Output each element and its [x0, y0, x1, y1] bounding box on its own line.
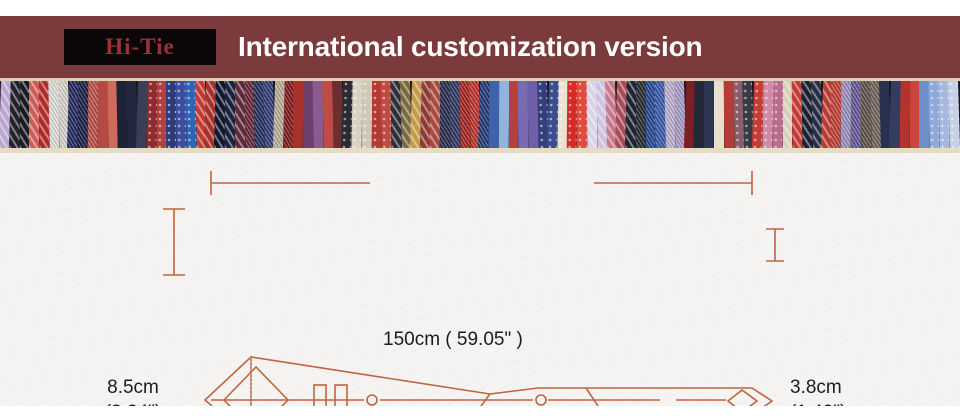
page-title: International customization version [238, 31, 702, 63]
necktie-thumbnail [851, 81, 861, 148]
right-width-cm: 3.8cm [790, 375, 920, 400]
necktie-thumbnail [919, 81, 929, 148]
header-band: Hi-Tie International customization versi… [0, 16, 960, 78]
necktie-thumbnail [587, 81, 597, 148]
length-dimension-line [211, 171, 752, 195]
tie-dimension-diagram: 150cm ( 59.05" ) 8.5cm (3.34") 3.8cm (1.… [0, 153, 960, 406]
necktie-thumbnail [948, 81, 960, 148]
brand-plate: Hi-Tie [64, 29, 216, 65]
necktie-thumbnail [567, 81, 577, 148]
left-width-cm: 8.5cm [78, 375, 188, 400]
length-dimension-label: 150cm ( 59.05" ) [383, 329, 523, 351]
product-detail-banner: Hi-Tie International customization versi… [0, 0, 960, 420]
necktie-thumbnail [156, 81, 166, 148]
necktie-thumbnail [146, 81, 157, 148]
necktie-thumbnail [98, 81, 108, 148]
necktie-thumbnail [909, 81, 919, 148]
necktie-thumbnail [860, 81, 870, 148]
right-width-dimension [766, 229, 784, 261]
necktie-thumbnail [88, 81, 98, 148]
keeper-loops [314, 385, 347, 406]
necktie-thumbnail [841, 81, 851, 148]
necktie-thumbnail [714, 81, 724, 148]
necktie-thumbnail [704, 81, 714, 148]
necktie-thumbnail [362, 81, 372, 148]
necktie-thumbnail [166, 81, 176, 148]
bottom-spacer [0, 406, 960, 420]
necktie-thumbnail [430, 81, 440, 148]
left-width-label: 8.5cm (3.34") [78, 375, 188, 406]
narrow-tip-diamond [728, 390, 757, 406]
necktie-thumbnail [440, 81, 450, 148]
necktie-thumbnail [577, 81, 587, 148]
necktie-thumbnail [225, 81, 235, 148]
necktie-thumbnail [899, 81, 910, 148]
necktie-thumbnail [29, 81, 39, 148]
brand-logo-text: Hi-Tie [105, 34, 174, 60]
necktie-thumbnail [293, 81, 303, 148]
necktie-thumbnail [9, 81, 20, 148]
necktie-thumbnail [723, 81, 733, 148]
necktie-thumbnail [498, 81, 508, 148]
necktie-thumbnail [235, 81, 245, 148]
necktie-thumbnail [762, 81, 773, 148]
right-width-label: 3.8cm (1.49") [790, 375, 920, 406]
tie-body-outline [205, 355, 772, 406]
tie-schematic-svg [0, 153, 960, 406]
necktie-thumbnail [772, 81, 782, 148]
necktie-thumbnail [450, 81, 460, 148]
necktie-photo-strip-inner [0, 81, 960, 148]
left-width-dimension [163, 209, 185, 275]
necktie-thumbnail [303, 81, 313, 148]
necktie-thumbnail [635, 81, 645, 148]
necktie-thumbnail [19, 81, 29, 148]
necktie-photo-strip [0, 78, 960, 153]
